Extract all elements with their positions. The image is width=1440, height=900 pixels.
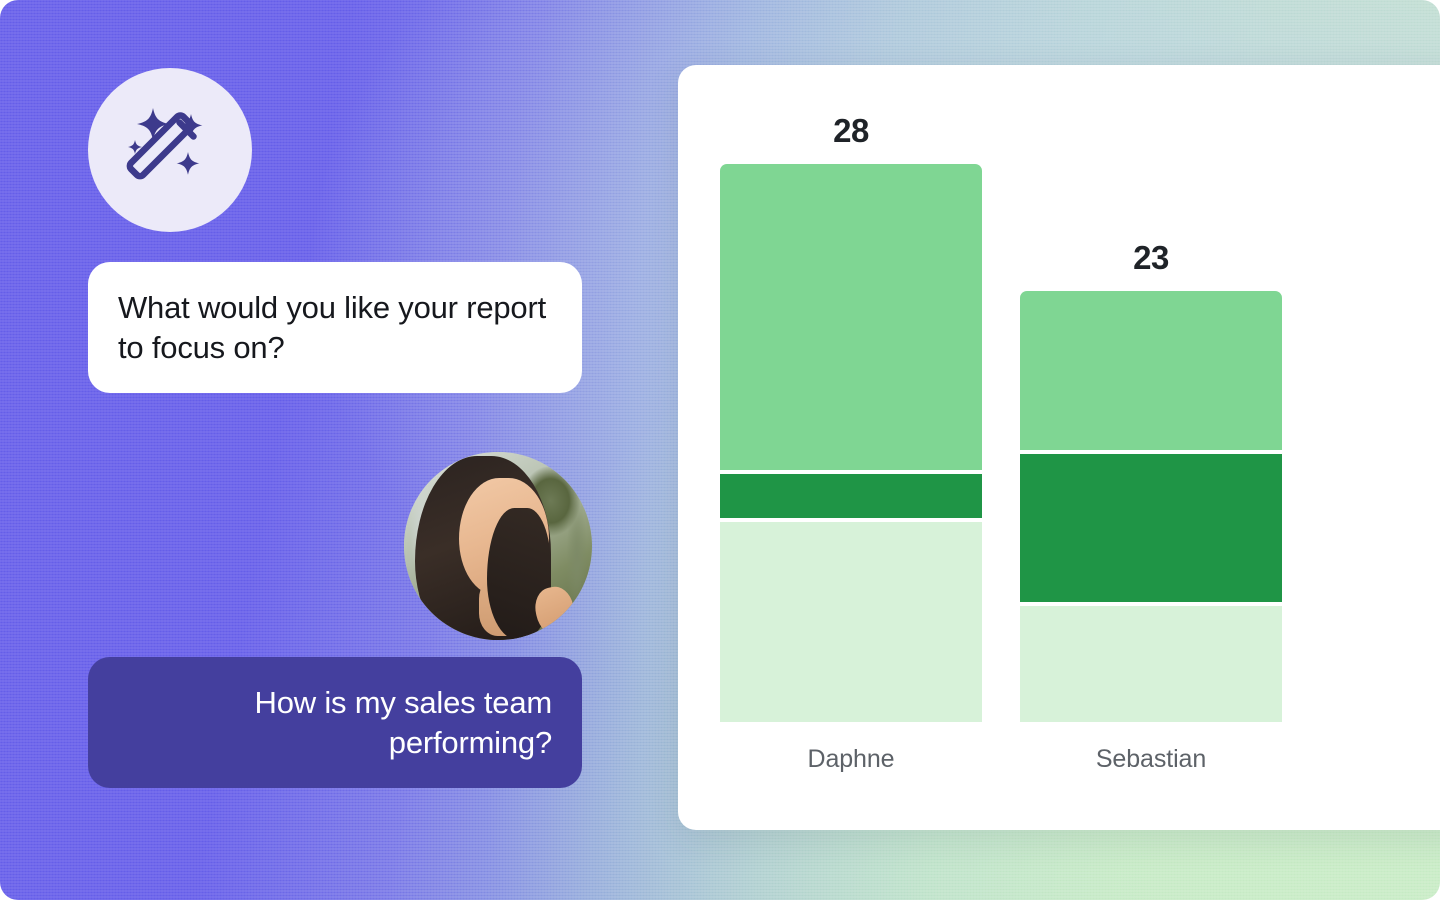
bar-segment-top[interactable] xyxy=(720,164,982,470)
bar-chart: 28 23 Daphne Sebastian xyxy=(678,65,1440,830)
bar-segment-top[interactable] xyxy=(1020,291,1282,450)
bar-segment-bottom[interactable] xyxy=(720,522,982,722)
bar-segment-bottom[interactable] xyxy=(1020,606,1282,722)
magic-wand-sparkles-icon xyxy=(122,102,218,198)
avatar-portrait-illustration xyxy=(404,452,592,640)
bar-segment-middle[interactable] xyxy=(720,474,982,518)
bar-segment-middle[interactable] xyxy=(1020,454,1282,602)
bar-total-label: 23 xyxy=(1133,239,1169,277)
bar-stack xyxy=(1020,291,1282,722)
assistant-message-bubble: What would you like your report to focus… xyxy=(88,262,582,393)
chart-card: 28 23 Daphne Sebastian xyxy=(678,65,1440,830)
assistant-badge xyxy=(88,68,252,232)
user-avatar xyxy=(404,452,592,640)
bar-total-label: 28 xyxy=(833,112,869,150)
bar-group-sebastian[interactable]: 23 xyxy=(1020,239,1282,722)
bar-stack xyxy=(720,164,982,722)
bar-group-daphne[interactable]: 28 xyxy=(720,112,982,722)
user-message-bubble: How is my sales team performing? xyxy=(88,657,582,788)
x-axis-label-daphne: Daphne xyxy=(720,745,982,774)
x-axis-label-sebastian: Sebastian xyxy=(1020,745,1282,774)
screenshot-stage: What would you like your report to focus… xyxy=(0,0,1440,900)
